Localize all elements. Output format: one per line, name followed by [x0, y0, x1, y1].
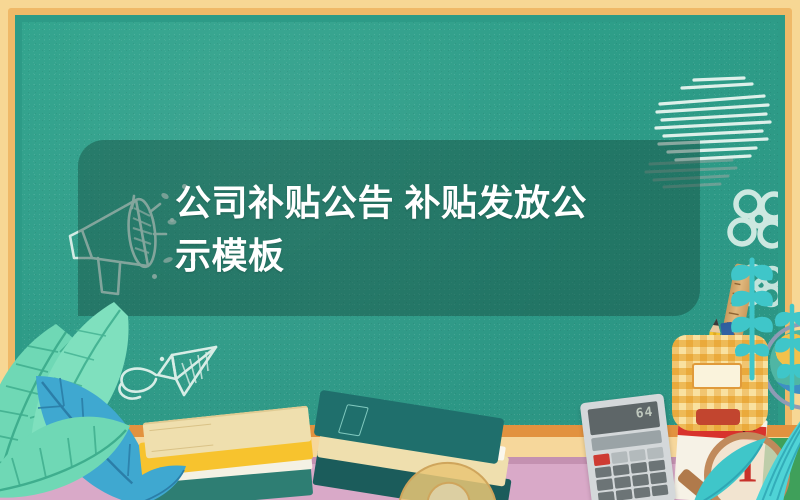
book-cover-lines [149, 424, 213, 452]
leaf-illustration [0, 392, 132, 500]
calculator-key [629, 449, 646, 461]
calculator-key [616, 488, 633, 500]
backpack-pocket [696, 409, 740, 425]
calculator-key [614, 476, 631, 488]
calculator-key [633, 486, 650, 498]
calculator-key [651, 484, 668, 496]
calculator-key [630, 461, 647, 473]
fern-leaf-illustration [766, 300, 800, 410]
page-title: 公司补贴公告 补贴发放公 示模板 [175, 176, 645, 282]
calculator-key [596, 478, 613, 490]
flower-chalk-icon [722, 182, 778, 256]
calculator-key [613, 464, 630, 476]
calculator-key [650, 472, 667, 484]
book-cover-badge [338, 404, 369, 436]
fern-leaf-illustration [690, 430, 768, 500]
calculator-key [593, 453, 610, 465]
calculator-key [595, 466, 612, 478]
calculator-key [611, 451, 628, 463]
page-title-line1: 公司补贴公告 补贴发放公 [175, 176, 645, 229]
poster-canvas: 公司补贴公告 补贴发放公 示模板 [0, 0, 800, 500]
calculator-key [647, 447, 664, 459]
calculator-display: 64 [635, 405, 654, 422]
page-title-line2: 示模板 [175, 229, 645, 282]
protractor-inner [424, 480, 470, 500]
leaf-illustration [118, 462, 188, 500]
calculator-key [632, 474, 649, 486]
calculator-key [648, 459, 665, 471]
calculator-keypad [593, 447, 668, 500]
calculator-icon: 64 [580, 393, 677, 500]
calculator-key [598, 491, 615, 500]
